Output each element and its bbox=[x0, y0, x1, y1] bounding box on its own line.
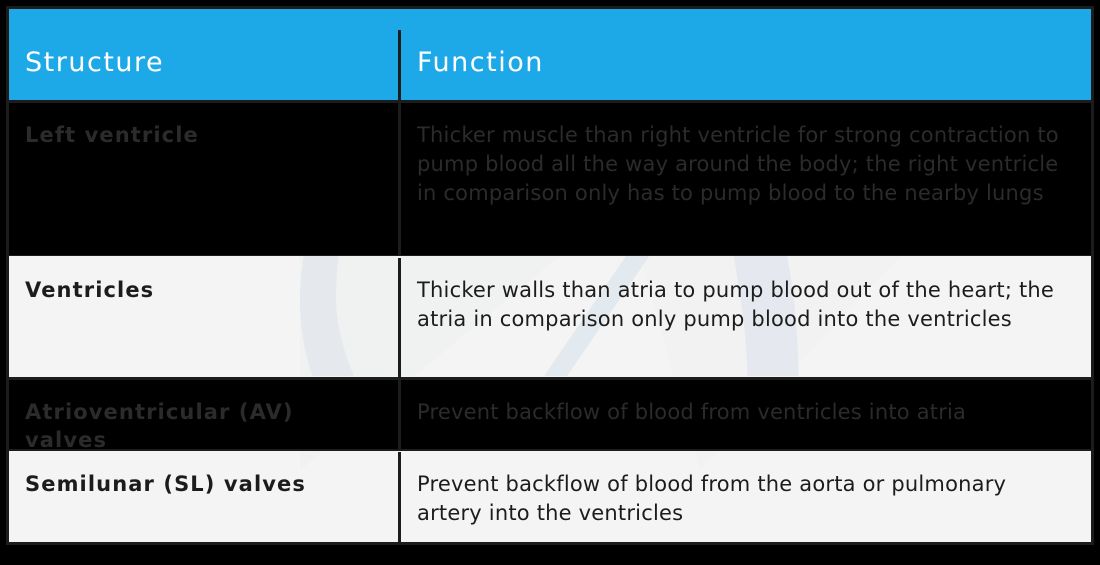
table-row: Ventricles Thicker walls than atria to p… bbox=[9, 258, 1091, 380]
table-header-row: Structure Function bbox=[9, 9, 1091, 103]
structure-label: Ventricles bbox=[25, 276, 382, 304]
structure-label: Atrioventricular (AV) valves bbox=[25, 398, 382, 449]
header-cell-structure: Structure bbox=[9, 30, 401, 100]
table-row: Semilunar (SL) valves Prevent backflow o… bbox=[9, 452, 1091, 542]
function-description: Thicker walls than atria to pump blood o… bbox=[417, 276, 1075, 334]
header-label-structure: Structure bbox=[25, 48, 382, 78]
cell-structure: Semilunar (SL) valves bbox=[9, 452, 401, 542]
function-description: Prevent backflow of blood from ventricle… bbox=[417, 398, 1075, 427]
function-description: Prevent backflow of blood from the aorta… bbox=[417, 470, 1075, 528]
structure-label: Left ventricle bbox=[25, 121, 382, 149]
structure-label: Semilunar (SL) valves bbox=[25, 470, 382, 498]
header-label-function: Function bbox=[417, 48, 1075, 78]
cell-structure: Left ventricle bbox=[9, 103, 401, 255]
cell-function: Prevent backflow of blood from ventricle… bbox=[401, 380, 1091, 449]
function-description: Thicker muscle than right ventricle for … bbox=[417, 121, 1075, 207]
cell-structure: Atrioventricular (AV) valves bbox=[9, 380, 401, 449]
comparison-table: Structure Function Left ventricle Thicke… bbox=[6, 6, 1094, 545]
header-cell-function: Function bbox=[401, 30, 1091, 100]
cell-structure: Ventricles bbox=[9, 258, 401, 377]
table-row: Atrioventricular (AV) valves Prevent bac… bbox=[9, 380, 1091, 452]
cell-function: Thicker muscle than right ventricle for … bbox=[401, 103, 1091, 255]
table-row: Left ventricle Thicker muscle than right… bbox=[9, 103, 1091, 258]
cell-function: Prevent backflow of blood from the aorta… bbox=[401, 452, 1091, 542]
cell-function: Thicker walls than atria to pump blood o… bbox=[401, 258, 1091, 377]
page-root: Structure Function Left ventricle Thicke… bbox=[0, 0, 1100, 565]
